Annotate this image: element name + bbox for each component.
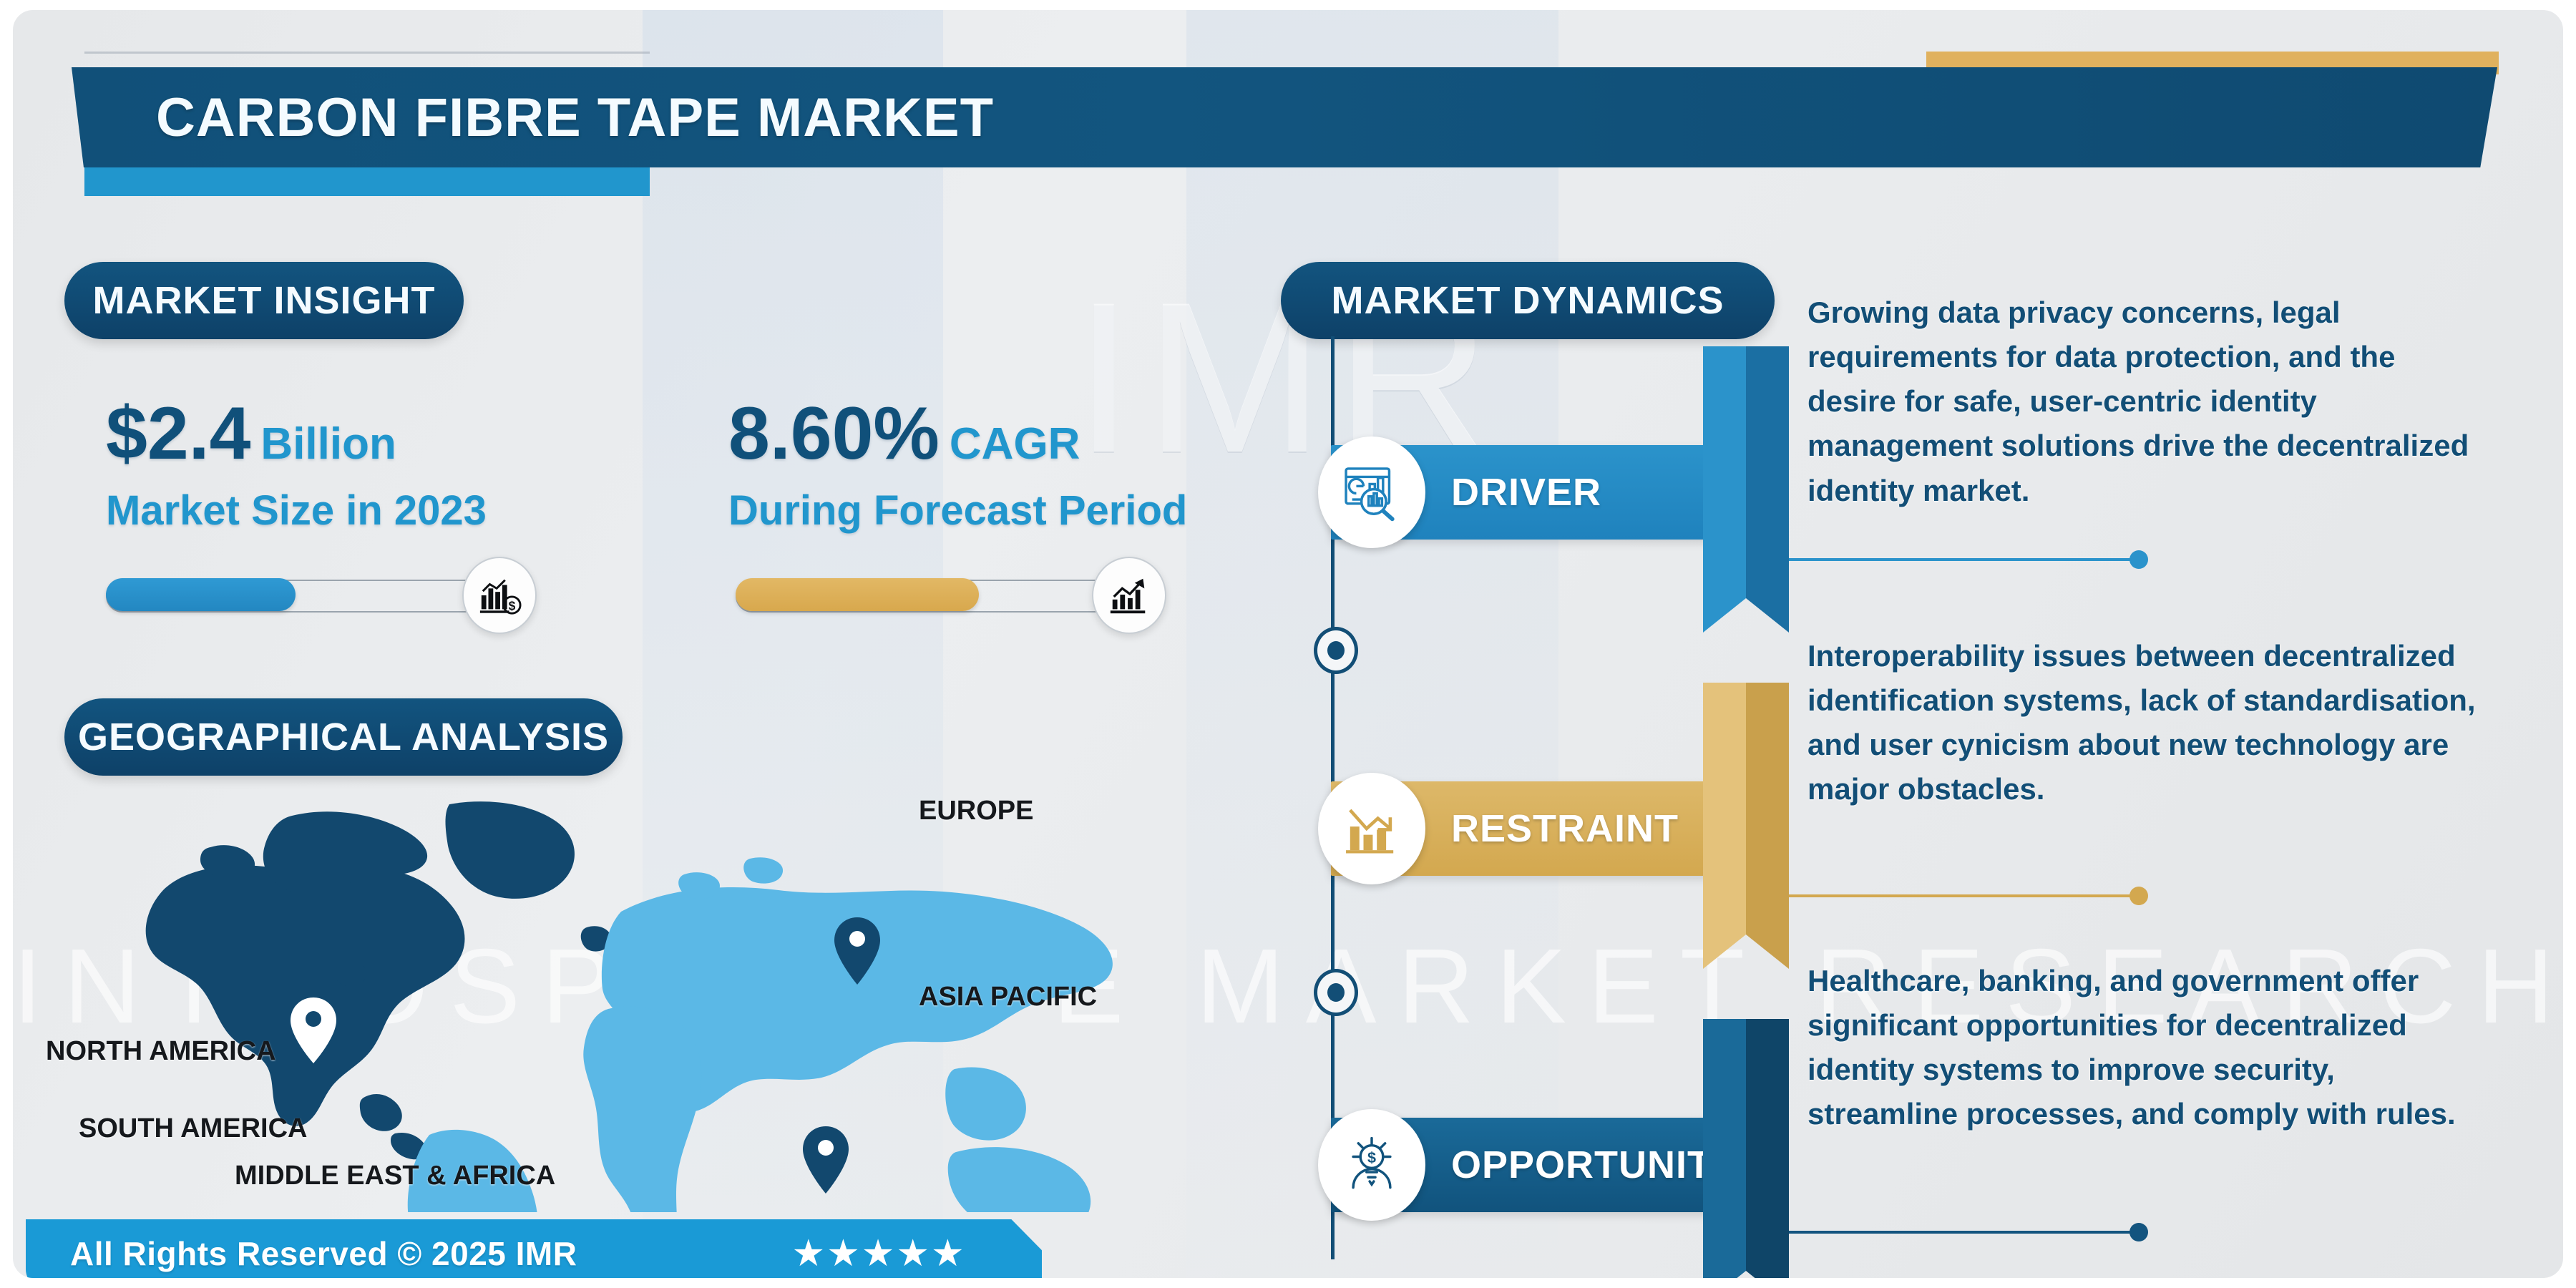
map-label-europe: EUROPE xyxy=(919,796,1033,826)
kpi-cagr-caption: During Forecast Period xyxy=(728,487,1272,535)
driver-bar: DRIVER xyxy=(1331,445,1717,540)
opportunity-label: OPPORTUNITY xyxy=(1451,1143,1738,1187)
header-blue-underline xyxy=(84,167,650,196)
map-label-north-america: NORTH AMERICA xyxy=(46,1036,276,1067)
svg-text:$: $ xyxy=(509,598,516,613)
market-size-progress: $ xyxy=(106,574,492,615)
market-dynamics-heading-label: MARKET DYNAMICS xyxy=(1332,278,1724,323)
map-region-north-america xyxy=(146,801,611,1159)
driver-ribbon xyxy=(1703,346,1789,633)
header-thin-rule xyxy=(84,52,650,54)
kpi-market-size: $2.4Billion Market Size in 2023 xyxy=(106,396,650,535)
svg-text:$: $ xyxy=(1367,1148,1376,1166)
map-label-south-america: SOUTH AMERICA xyxy=(79,1113,307,1144)
restraint-rule-dot xyxy=(2129,887,2148,905)
kpi-cagr: 8.60%CAGR During Forecast Period xyxy=(728,396,1272,535)
rating-stars-icon: ★★★★★ xyxy=(791,1232,965,1275)
driver-rule xyxy=(1789,558,2147,561)
cagr-progress xyxy=(736,574,1122,615)
kpi-market-size-value: $2.4 xyxy=(106,392,250,475)
kpi-cagr-value: 8.60% xyxy=(728,392,940,475)
restraint-label: RESTRAINT xyxy=(1451,806,1679,851)
map-region-eurasia-africa-oceania xyxy=(583,857,1143,1212)
page-title: CARBON FIBRE TAPE MARKET xyxy=(156,87,994,149)
market-insight-heading-label: MARKET INSIGHT xyxy=(93,278,436,323)
kpi-cagr-row: 8.60%CAGR xyxy=(728,396,1272,471)
header-bar: CARBON FIBRE TAPE MARKET xyxy=(72,67,2497,167)
opportunity-rule xyxy=(1789,1231,2147,1234)
restraint-description: Interoperability issues between decentra… xyxy=(1807,634,2487,812)
map-label-asia-pacific: ASIA PACIFIC xyxy=(919,982,1097,1013)
kpi-market-size-unit: Billion xyxy=(260,419,396,469)
lightbulb-dollar-icon: $ xyxy=(1318,1109,1425,1221)
market-dynamics-heading: MARKET DYNAMICS xyxy=(1281,262,1775,339)
kpi-market-size-row: $2.4Billion xyxy=(106,396,650,471)
infographic-canvas: IMR INTROSPECTIVE MARKET RESEARCH CARBON… xyxy=(13,10,2563,1278)
chart-magnifier-icon xyxy=(1318,436,1425,548)
market-size-progress-fill xyxy=(106,578,296,611)
dynamics-axis-node-2 xyxy=(1314,969,1358,1016)
map-pin-asia-pacific xyxy=(803,1126,849,1194)
infographic-page: IMR INTROSPECTIVE MARKET RESEARCH CARBON… xyxy=(0,0,2576,1288)
driver-label: DRIVER xyxy=(1451,470,1601,514)
cagr-progress-fill xyxy=(736,578,979,611)
background-panel-right xyxy=(1186,10,1558,1278)
opportunity-description: Healthcare, banking, and government offe… xyxy=(1807,959,2487,1137)
footer-bar: All Rights Reserved © 2025 IMR ★★★★★ xyxy=(26,1219,1042,1278)
restraint-rule xyxy=(1789,894,2147,897)
driver-description: Growing data privacy concerns, legal req… xyxy=(1807,291,2487,513)
kpi-market-size-caption: Market Size in 2023 xyxy=(106,487,650,535)
opportunity-rule-dot xyxy=(2129,1223,2148,1241)
market-insight-heading: MARKET INSIGHT xyxy=(64,262,464,339)
map-label-middle-east-africa: MIDDLE EAST & AFRICA xyxy=(235,1161,555,1191)
geographical-analysis-heading-label: GEOGRAPHICAL ANALYSIS xyxy=(78,715,609,759)
bar-chart-dollar-icon: $ xyxy=(462,557,537,634)
opportunity-ribbon xyxy=(1703,1019,1789,1278)
declining-bar-chart-icon xyxy=(1318,773,1425,884)
driver-rule-dot xyxy=(2129,550,2148,569)
opportunity-bar: $ OPPORTUNITY xyxy=(1331,1118,1717,1212)
restraint-ribbon xyxy=(1703,683,1789,969)
restraint-bar: RESTRAINT xyxy=(1331,781,1717,876)
kpi-cagr-unit: CAGR xyxy=(950,419,1080,469)
dynamics-axis-node-1 xyxy=(1314,627,1358,674)
growth-arrow-chart-icon xyxy=(1092,557,1166,634)
copyright-text: All Rights Reserved © 2025 IMR xyxy=(70,1234,577,1273)
geographical-analysis-heading: GEOGRAPHICAL ANALYSIS xyxy=(64,698,623,776)
